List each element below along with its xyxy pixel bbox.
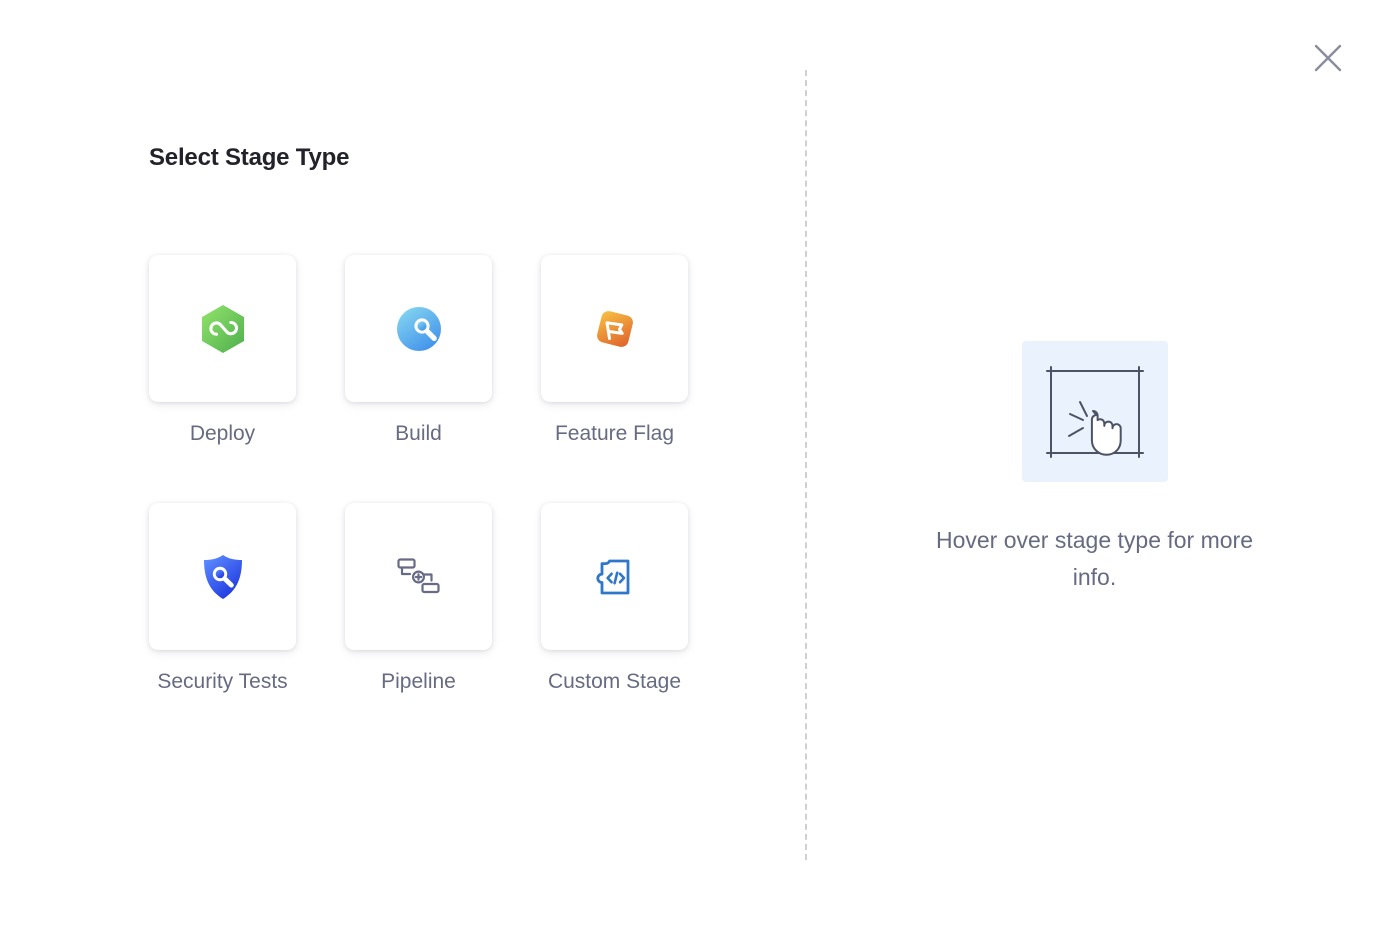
stage-option-feature-flag[interactable]: Feature Flag: [541, 255, 688, 449]
security-shield-magnifier-icon: [201, 553, 245, 601]
page-title: Select Stage Type: [149, 144, 349, 172]
stage-label-pipeline: Pipeline: [345, 666, 492, 697]
pipeline-nodes-icon: [394, 553, 444, 601]
feature-flag-icon: [591, 305, 639, 353]
stage-info-pane: Hover over stage type for more info.: [807, 0, 1382, 950]
deploy-hexagon-infinity-icon: [200, 304, 246, 354]
stage-card-deploy[interactable]: [149, 255, 296, 402]
stage-option-deploy[interactable]: Deploy: [149, 255, 296, 449]
stage-option-pipeline[interactable]: Pipeline: [345, 503, 492, 697]
stage-label-custom-stage: Custom Stage: [541, 666, 688, 697]
hand-click-square-illustration: [1022, 341, 1168, 482]
stage-option-security-tests[interactable]: Security Tests: [149, 503, 296, 697]
stage-card-pipeline[interactable]: [345, 503, 492, 650]
stage-option-build[interactable]: Build: [345, 255, 492, 449]
stage-label-deploy: Deploy: [149, 418, 296, 449]
stage-selection-pane: Select Stage Type: [0, 0, 806, 950]
stage-label-feature-flag: Feature Flag: [541, 418, 688, 449]
hover-hint-text: Hover over stage type for more info.: [915, 522, 1275, 596]
stage-card-build[interactable]: [345, 255, 492, 402]
stage-label-build: Build: [345, 418, 492, 449]
build-circle-magnifier-icon: [395, 305, 443, 353]
custom-stage-puzzle-code-icon: [594, 556, 636, 598]
select-stage-type-dialog: Select Stage Type: [0, 0, 1382, 950]
stage-card-feature-flag[interactable]: [541, 255, 688, 402]
stage-label-security-tests: Security Tests: [149, 666, 296, 697]
stage-option-custom-stage[interactable]: Custom Stage: [541, 503, 688, 697]
stage-card-security-tests[interactable]: [149, 503, 296, 650]
stage-type-grid: Deploy: [149, 255, 688, 697]
stage-card-custom-stage[interactable]: [541, 503, 688, 650]
